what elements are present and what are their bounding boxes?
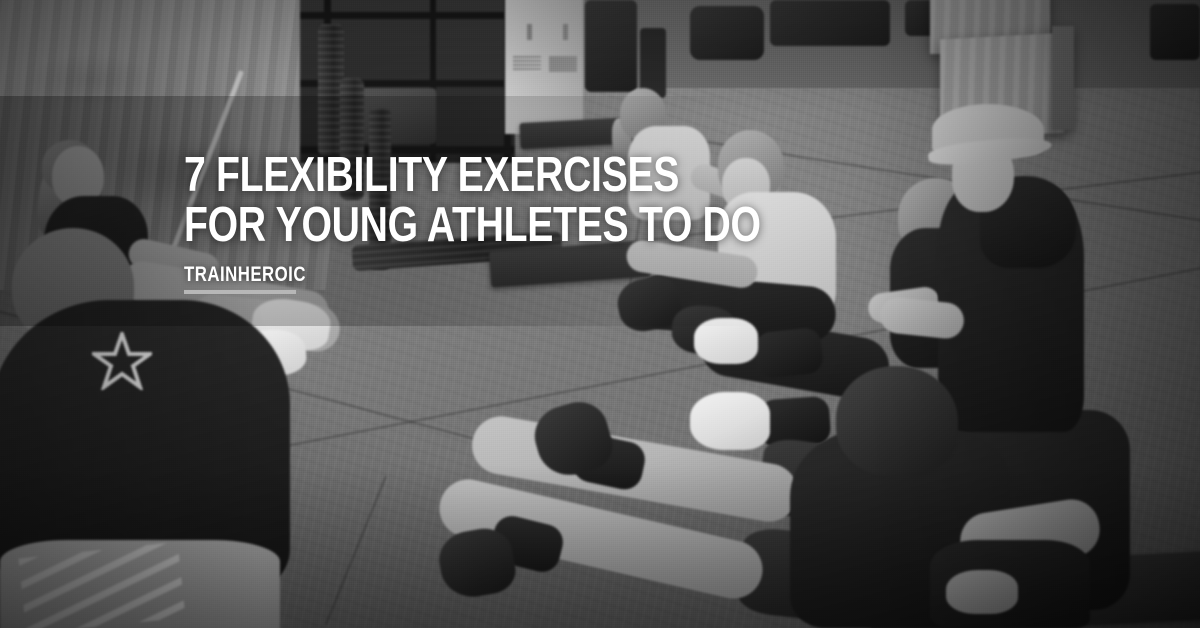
gym-locker	[505, 0, 585, 134]
brand-name: TrainHeroic	[184, 264, 306, 286]
athlete-figure	[836, 366, 958, 476]
headline-line-1: 7 Flexibility Exercises	[184, 150, 872, 200]
headline-line-2: For Young Athletes To Do	[184, 200, 872, 250]
page-title: 7 Flexibility Exercises For Young Athlet…	[184, 150, 872, 250]
gear-bag	[585, 0, 637, 92]
background-photo	[0, 0, 1200, 628]
athlete-shoe	[694, 318, 758, 364]
gear-bag	[1150, 4, 1200, 60]
brand-mark: TrainHeroic	[184, 264, 336, 294]
gear-bag	[690, 6, 764, 60]
athlete-figure	[946, 570, 1018, 614]
gear-bag	[770, 0, 890, 46]
brand-underline-rule	[184, 290, 296, 294]
star-logo-icon	[92, 332, 152, 390]
plyo-box	[1052, 26, 1074, 130]
article-hero-banner: 7 Flexibility Exercises For Young Athlet…	[0, 0, 1200, 628]
hero-text-overlay: 7 Flexibility Exercises For Young Athlet…	[184, 150, 1044, 294]
athlete-shoe	[690, 392, 770, 450]
athlete-sock	[754, 327, 824, 380]
